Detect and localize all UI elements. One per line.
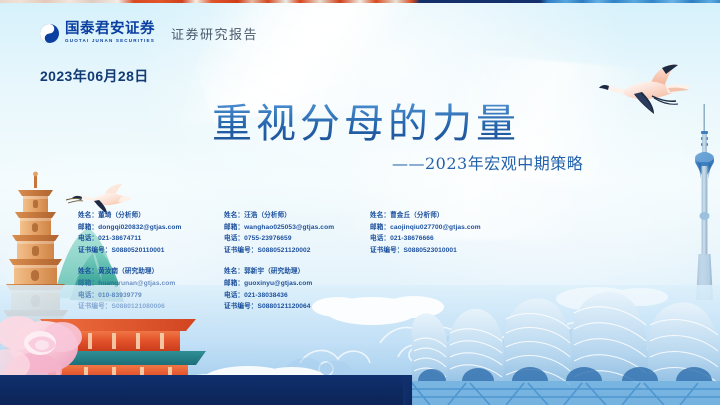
author-name: 姓名：黄汝南（研究助理） — [78, 266, 224, 278]
flying-crane-icon — [596, 62, 692, 129]
logo-text-block: 国泰君安证券 GUOTAI JUNAN SECURITIES — [65, 22, 155, 44]
report-cover-slide: 国泰君安证券 GUOTAI JUNAN SECURITIES 证券研究报告 20… — [0, 0, 720, 405]
author-email: 邮箱：guoxinyu@gtjas.com — [224, 278, 370, 290]
author-phone: 电话：021-38674711 — [78, 233, 224, 245]
yin-yang-circle-icon — [40, 24, 59, 43]
author-info-block: 姓名：董琦（分析师） 邮箱：dongqi020832@gtjas.com 电话：… — [78, 210, 598, 313]
adjacent-slide-strip — [0, 0, 720, 3]
logo-text-cn: 国泰君安证券 — [65, 22, 155, 37]
author-phone: 电话：021-38676666 — [370, 233, 550, 245]
author-row-2: 姓名：黄汝南（研究助理） 邮箱：huangrunan@gtjas.com 电话：… — [78, 266, 598, 312]
author-name: 姓名：汪浩（分析师） — [224, 210, 370, 222]
oriental-pearl-tower-icon — [688, 104, 720, 309]
author-phone: 电话：0755-23976659 — [224, 233, 370, 245]
author-card-3: 姓名：曹金丘（分析师） 邮箱：caojinqiu027700@gtjas.com… — [370, 210, 550, 256]
page-title: 重视分母的力量 — [212, 100, 520, 148]
author-row-1: 姓名：董琦（分析师） 邮箱：dongqi020832@gtjas.com 电话：… — [78, 210, 598, 256]
logo-text-en: GUOTAI JUNAN SECURITIES — [65, 37, 155, 44]
navy-footer-bar — [0, 375, 412, 405]
author-cert: 证书编号：S0880121080006 — [78, 301, 224, 313]
report-date: 2023年06月28日 — [40, 66, 149, 86]
author-cert: 证书编号：S0880121120064 — [224, 301, 370, 313]
header-subtitle: 证券研究报告 — [171, 24, 258, 43]
author-cert: 证书编号：S0880520110001 — [78, 245, 224, 257]
author-name: 姓名：曹金丘（分析师） — [370, 210, 550, 222]
author-email: 邮箱：dongqi020832@gtjas.com — [78, 222, 224, 234]
author-name: 姓名：郭新宇（研究助理） — [224, 266, 370, 278]
author-card-1: 姓名：董琦（分析师） 邮箱：dongqi020832@gtjas.com 电话：… — [78, 210, 224, 256]
page-subtitle: ——2023年宏观中期策略 — [392, 150, 583, 174]
author-email: 邮箱：wanghao025053@gtjas.com — [224, 222, 370, 234]
author-card-5: 姓名：郭新宇（研究助理） 邮箱：guoxinyu@gtjas.com 电话：02… — [224, 266, 370, 312]
author-card-4: 姓名：黄汝南（研究助理） 邮箱：huangrunan@gtjas.com 电话：… — [78, 266, 224, 312]
author-email: 邮箱：huangrunan@gtjas.com — [78, 278, 224, 290]
author-email: 邮箱：caojinqiu027700@gtjas.com — [370, 222, 550, 234]
author-card-2: 姓名：汪浩（分析师） 邮箱：wanghao025053@gtjas.com 电话… — [224, 210, 370, 256]
report-header: 国泰君安证券 GUOTAI JUNAN SECURITIES 证券研究报告 — [40, 22, 258, 44]
author-phone: 电话：010-83939779 — [78, 290, 224, 302]
author-phone: 电话：021-38038436 — [224, 290, 370, 302]
gtja-logo: 国泰君安证券 GUOTAI JUNAN SECURITIES — [40, 22, 155, 44]
author-cert: 证书编号：S0880521120002 — [224, 245, 370, 257]
author-name: 姓名：董琦（分析师） — [78, 210, 224, 222]
author-cert: 证书编号：S0880523010001 — [370, 245, 550, 257]
